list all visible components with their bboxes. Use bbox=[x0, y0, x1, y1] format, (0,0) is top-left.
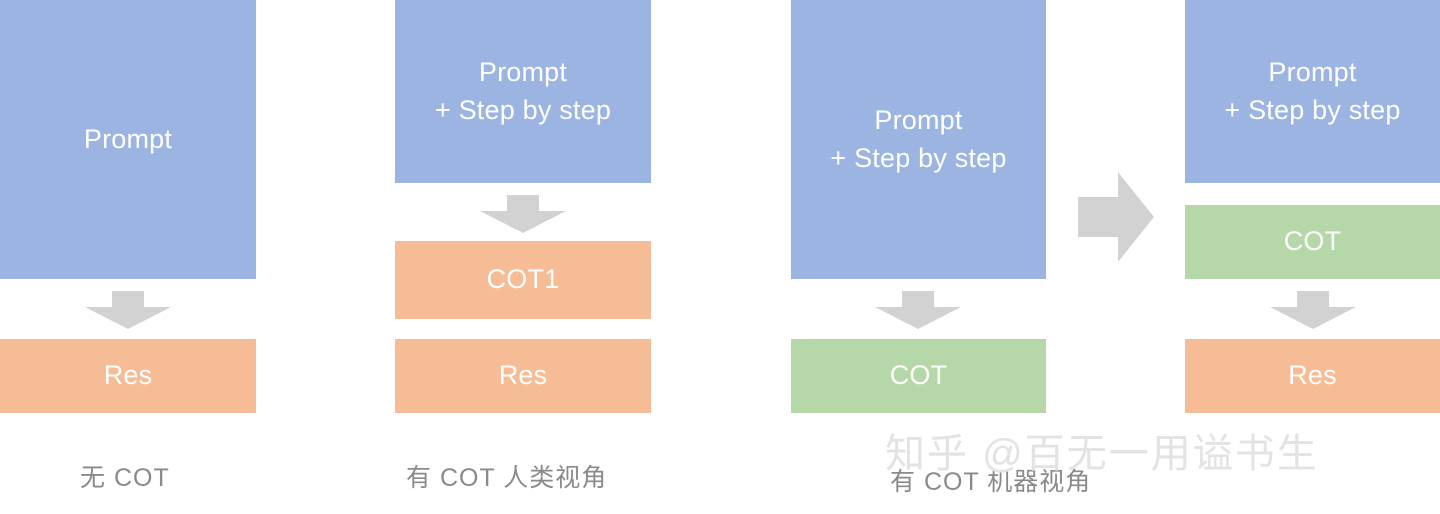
box-prompt-step-col4: Prompt + Step by step bbox=[1185, 0, 1440, 183]
box-res-col2: Res bbox=[395, 339, 651, 413]
caption-col3: 有 COT 机器视角 bbox=[890, 462, 1091, 498]
caption-col2: 有 COT 人类视角 bbox=[406, 458, 607, 494]
down-arrow-icon-col1 bbox=[85, 291, 171, 329]
diagram-canvas: Prompt Res 无 COT Prompt + Step by step C… bbox=[0, 0, 1440, 514]
box-cot1-col2: COT1 bbox=[395, 241, 651, 319]
box-cot-col3: COT bbox=[791, 339, 1046, 413]
caption-col1: 无 COT bbox=[80, 458, 170, 494]
down-arrow-icon-col4 bbox=[1270, 291, 1356, 329]
box-cot-col4: COT bbox=[1185, 205, 1440, 279]
down-arrow-icon-col3 bbox=[875, 291, 961, 329]
box-prompt-step-col3: Prompt + Step by step bbox=[791, 0, 1046, 279]
box-prompt-col1: Prompt bbox=[0, 0, 256, 279]
right-arrow-icon-transition bbox=[1078, 172, 1154, 262]
box-prompt-step-col2: Prompt + Step by step bbox=[395, 0, 651, 183]
box-res-col1: Res bbox=[0, 339, 256, 413]
box-res-col4: Res bbox=[1185, 339, 1440, 413]
down-arrow-icon-col2 bbox=[480, 195, 566, 233]
